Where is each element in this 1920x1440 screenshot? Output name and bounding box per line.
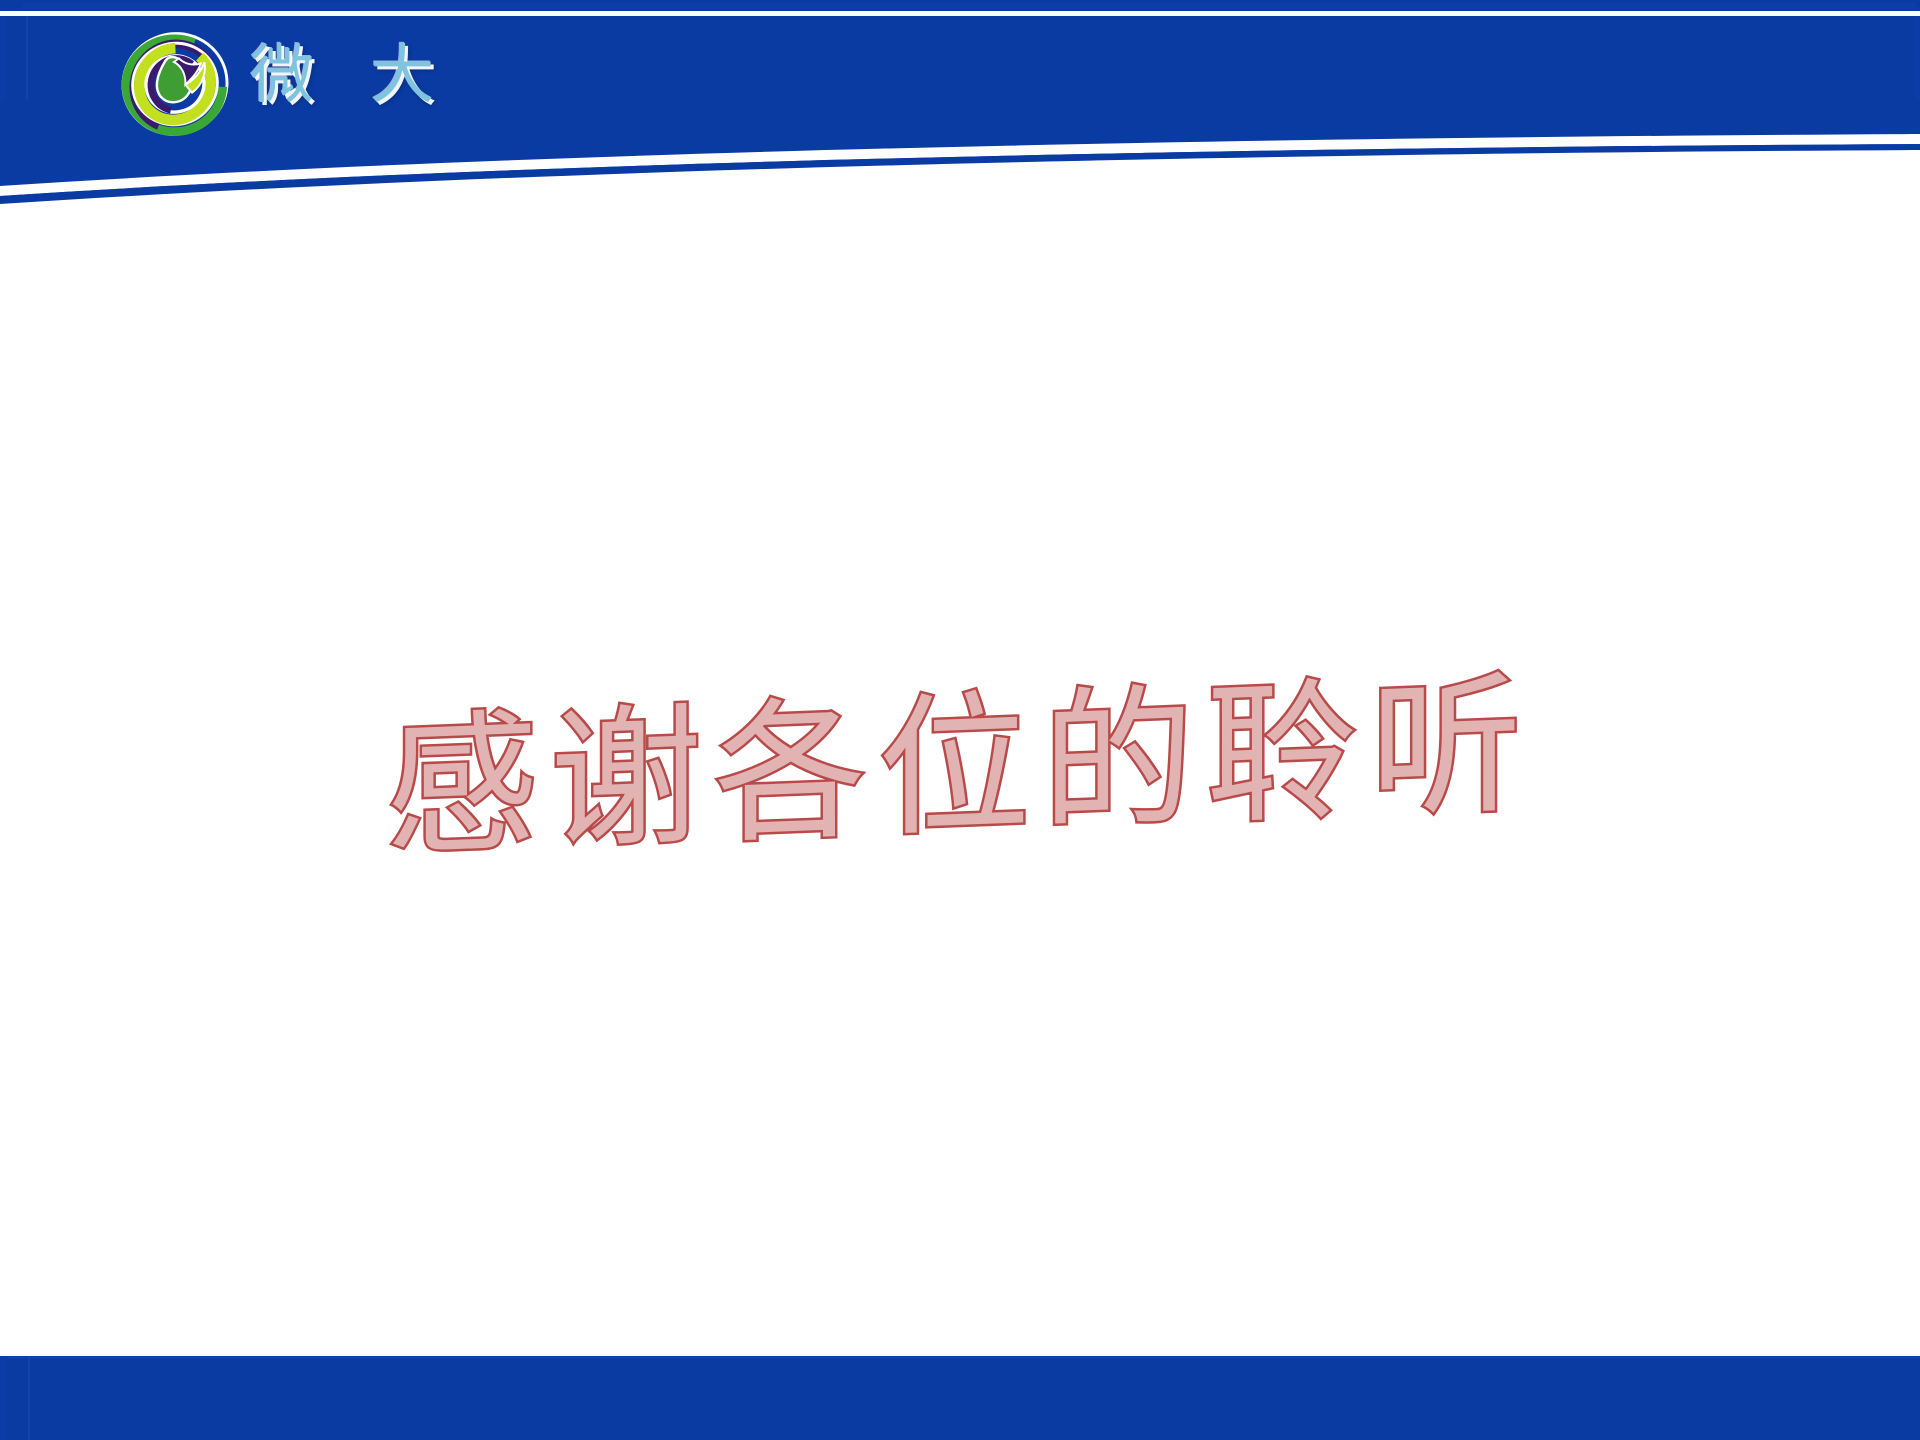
- header-right-edge: [1915, 16, 1920, 168]
- footer-top-highlight: [0, 1356, 1920, 1359]
- weida-logo-icon: [116, 26, 234, 142]
- header-left-edge: [0, 16, 6, 168]
- brand-name-text: 微 大: [250, 44, 452, 108]
- footer-left-inner-line: [28, 1356, 30, 1440]
- top-accent-strip: [0, 0, 1920, 11]
- footer-left-edge: [0, 1356, 6, 1440]
- slide-title: 感谢各位的聆听: [386, 658, 1534, 877]
- slide-title-container: 感谢各位的聆听: [0, 680, 1920, 855]
- header-left-inner-line: [26, 16, 28, 168]
- footer-bar: [0, 1356, 1920, 1440]
- top-accent-strip-inner: [22, 2, 1916, 9]
- presentation-slide: 微 大 感谢各位的聆听: [0, 0, 1920, 1440]
